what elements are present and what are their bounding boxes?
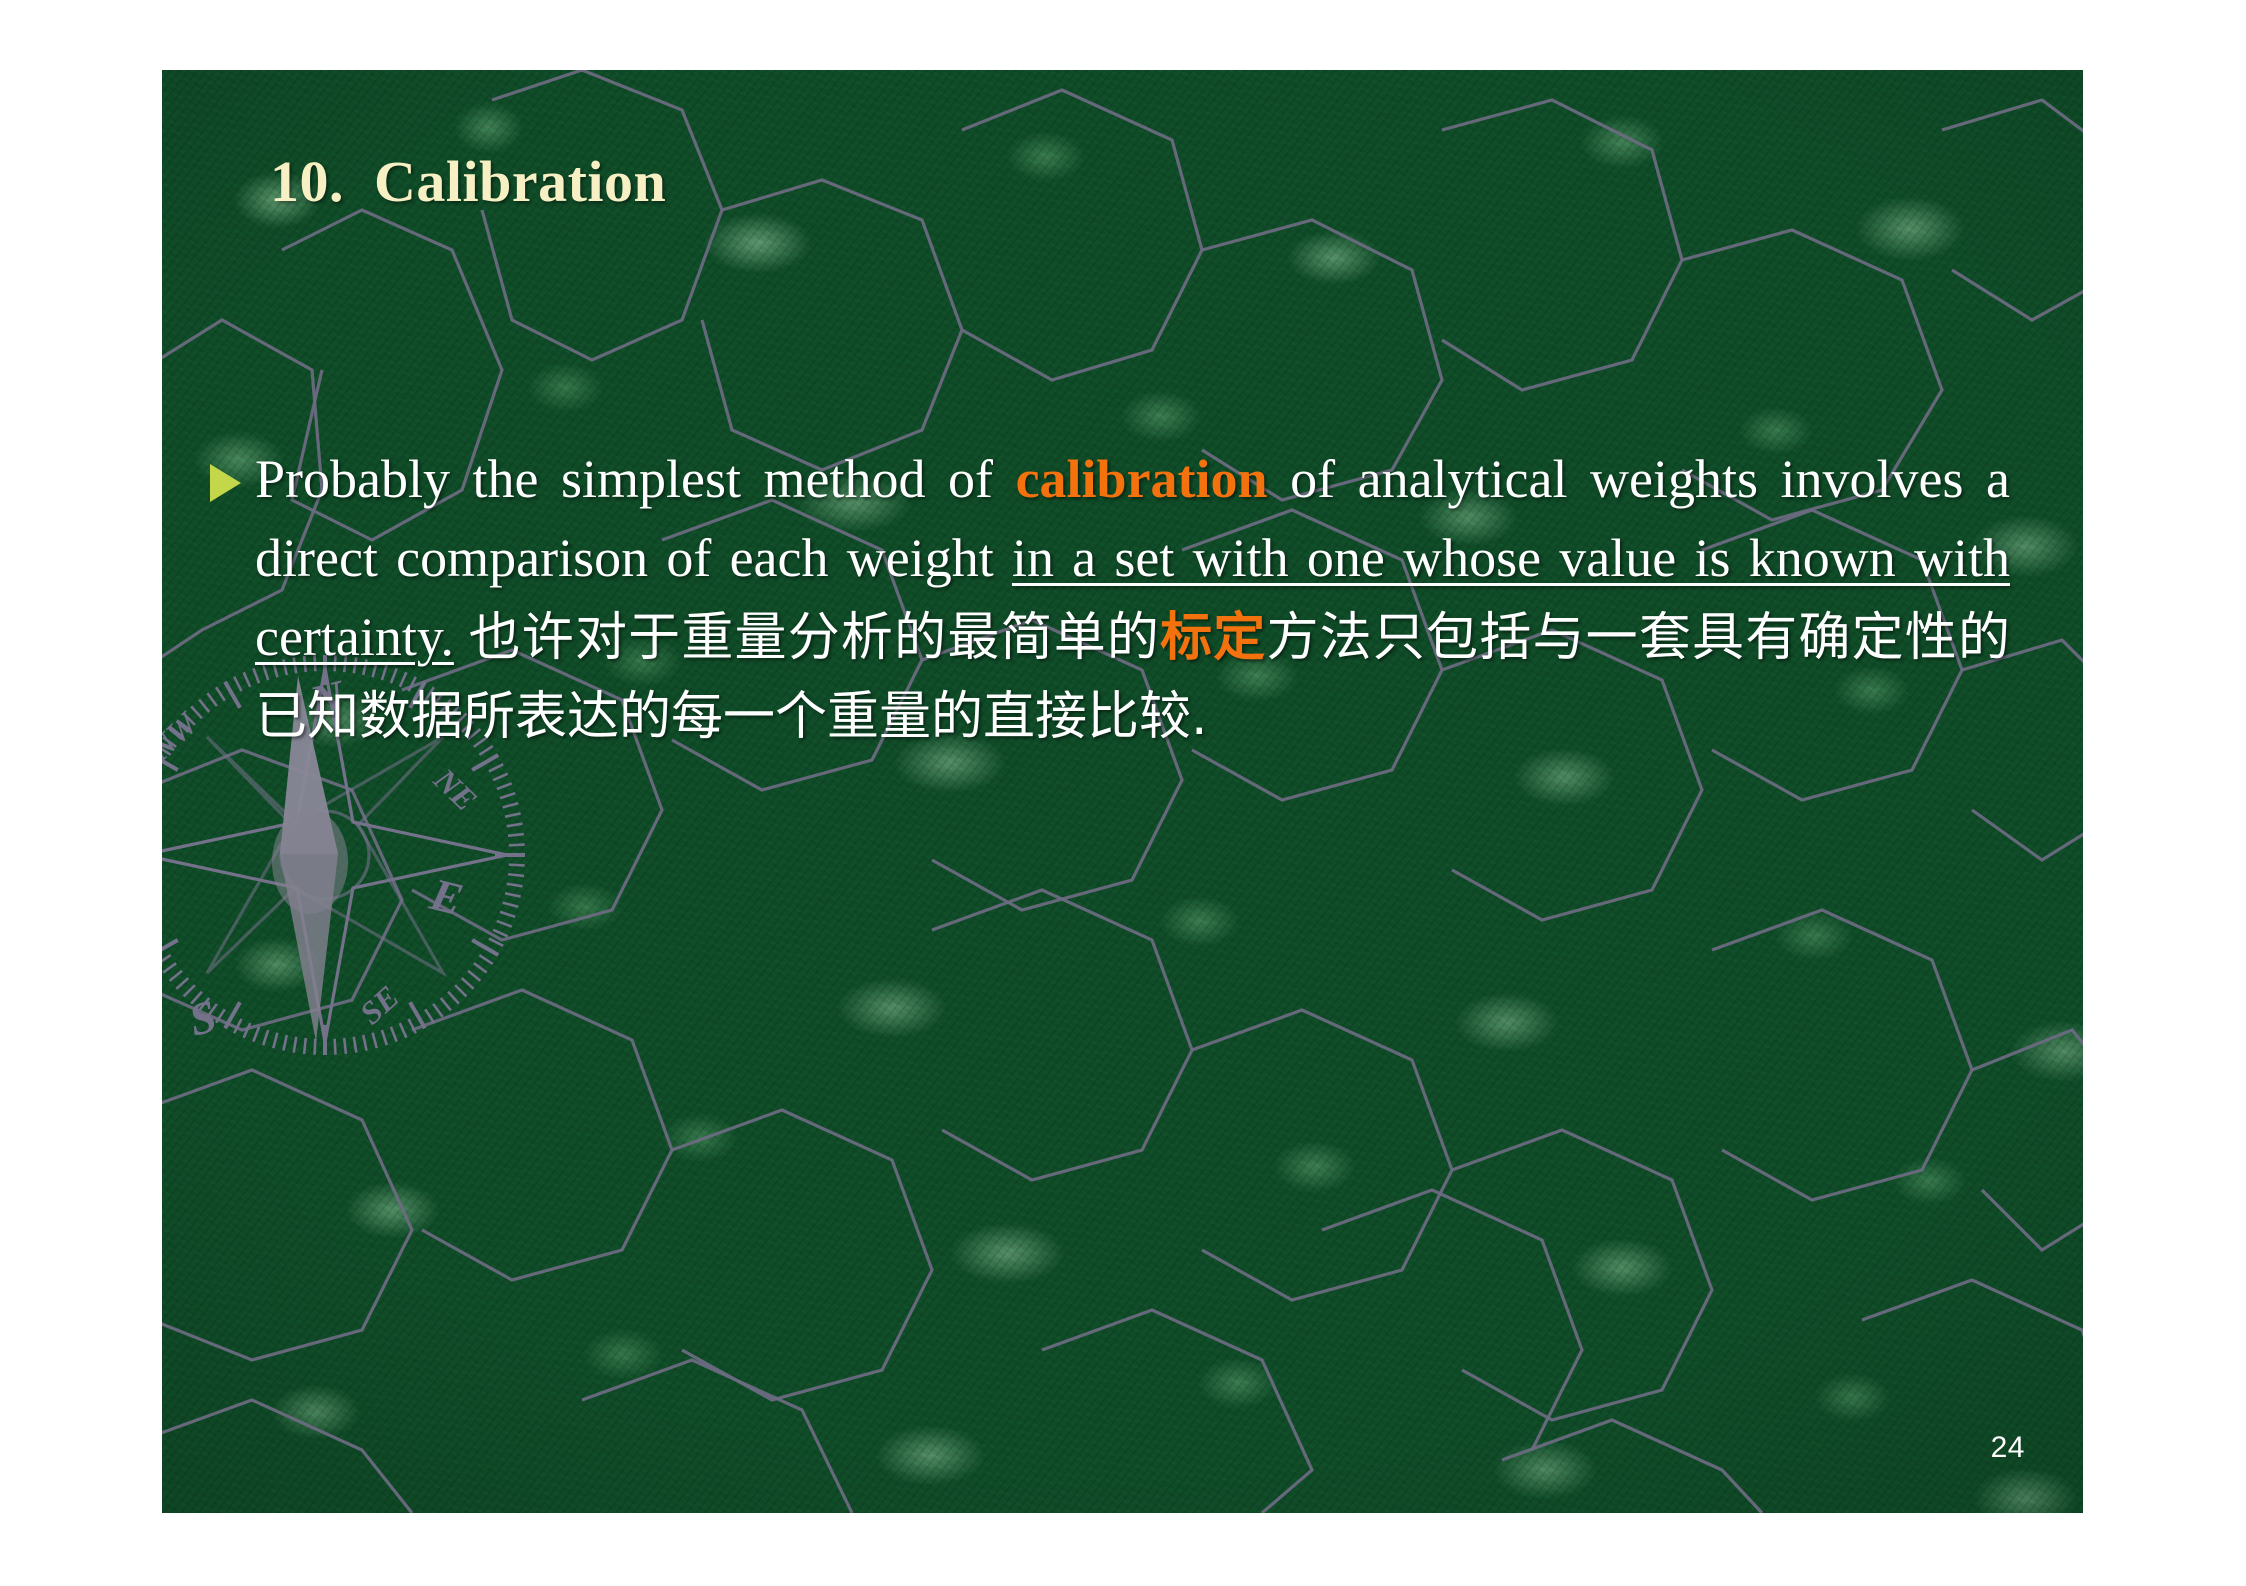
text-segment-6: 标定	[1160, 608, 1266, 668]
triangle-right-bullet-icon	[210, 464, 241, 502]
background-grain-layer	[162, 70, 2083, 1513]
compass-label-ne: NE	[426, 760, 484, 817]
background-texture-layer-1	[162, 70, 2083, 1513]
body-paragraph-text: Probably the simplest method of calibrat…	[255, 440, 2010, 755]
page-number: 24	[1991, 1431, 2025, 1465]
text-segment-1: calibration	[1016, 449, 1268, 509]
text-segment-0: Probably the simplest method of	[255, 449, 1016, 509]
compass-label-e: E	[425, 868, 468, 925]
background-vignette	[162, 70, 2083, 1513]
compass-label-s: S	[184, 990, 221, 1046]
bullet-paragraph: Probably the simplest method of calibrat…	[210, 440, 2010, 755]
text-segment-5: 也许对于重量分析的最简单的	[469, 608, 1161, 668]
slide-canvas: N NE E SE S NW 10. Calibration Probably …	[162, 70, 2083, 1513]
compass-label-se: SE	[353, 978, 406, 1031]
map-contour-lines	[162, 70, 2083, 1513]
compass-label-nw: NW	[162, 704, 206, 768]
background-texture-layer-3	[162, 70, 2083, 1513]
background-texture-layer-2	[162, 70, 2083, 1513]
slide-title: 10. Calibration	[270, 148, 666, 215]
text-segment-4	[454, 607, 469, 667]
